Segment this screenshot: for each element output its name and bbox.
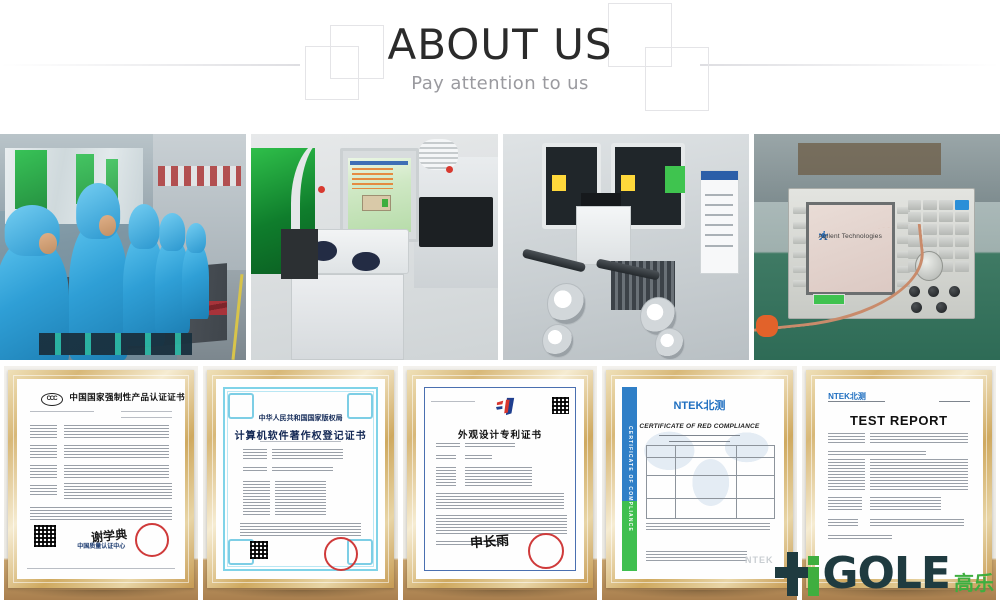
ref-line [669, 441, 730, 442]
field-labels [436, 443, 460, 449]
frame-shadow [12, 590, 190, 598]
component-reel [547, 283, 586, 324]
cnipa-logo-icon [495, 397, 517, 417]
ntek-watermark: NTEK [745, 555, 774, 565]
field-values [436, 493, 564, 509]
field-values [870, 519, 964, 527]
certificate-software-copyright[interactable]: 中华人民共和国国家版权局 计算机软件著作权登记证书 [203, 366, 397, 600]
cert-no-line [431, 401, 475, 402]
doc-line [705, 245, 733, 247]
body-text [30, 507, 171, 521]
field-line [30, 411, 94, 412]
emergency-stop-button [318, 186, 325, 193]
certificate-document: NTEK北测 TEST REPORT [815, 379, 983, 579]
key [923, 200, 937, 210]
worker-face [39, 233, 56, 253]
photo-smt-inspection-machine[interactable] [251, 134, 497, 360]
key-active [955, 200, 969, 210]
field-values [870, 459, 968, 491]
worker-face [99, 215, 116, 235]
key [955, 249, 969, 259]
connector [949, 286, 960, 297]
field-labels [30, 445, 57, 459]
doc-line [705, 204, 733, 206]
certificate-title: CERTIFICATE OF RED COMPLIANCE [615, 423, 783, 430]
clipboard-clip [701, 171, 738, 180]
key [923, 237, 937, 247]
screen-dialog [362, 195, 391, 211]
key [939, 237, 953, 247]
certificate-ccc[interactable]: CCC 中国国家强制性产品认证证书 [4, 366, 198, 600]
issuer-block [646, 551, 747, 563]
certificates-gallery: CCC 中国国家强制性产品认证证书 [0, 366, 1000, 600]
table-rule [675, 446, 676, 518]
key [955, 237, 969, 247]
certificate-design-patent[interactable]: 外观设计专利证书 申长雨 [403, 366, 597, 600]
directive-line [659, 435, 740, 436]
worker-cap [186, 223, 206, 254]
field-values [870, 497, 941, 511]
certificate-mat: CCC 中国国家强制性产品认证证书 [17, 379, 185, 579]
gold-frame: 外观设计专利证书 申长雨 [407, 370, 593, 588]
doc-line [705, 224, 733, 226]
field-values [64, 483, 172, 501]
photo-rf-test-equipment[interactable]: Agilent Technologies [754, 134, 1000, 360]
page-subtitle: Pay attention to us [0, 73, 1000, 95]
field-labels [436, 467, 456, 487]
certificate-title: 计算机软件著作权登记证书 [216, 427, 384, 442]
clipboard-document [700, 170, 739, 274]
yellow-tag [552, 175, 566, 191]
monitor-screen [348, 158, 411, 233]
key [908, 200, 922, 210]
machine-opening [419, 197, 493, 247]
rf-connectors [908, 285, 967, 313]
red-seal [324, 537, 358, 571]
certificate-document: CCC 中国国家强制性产品认证证书 [17, 379, 185, 579]
field-values [64, 445, 168, 459]
component-reel [655, 328, 685, 360]
doc-line [705, 214, 733, 216]
wall-stripes [158, 166, 242, 186]
certificate-test-report[interactable]: NTEK北测 TEST REPORT [802, 366, 996, 600]
doc-line [705, 194, 733, 196]
certificate-authority: 中华人民共和国国家版权局 [216, 413, 384, 423]
connector [936, 302, 947, 313]
field-labels [828, 519, 858, 527]
certificate-mat: 中华人民共和国国家版权局 计算机软件著作权登记证书 [216, 379, 384, 579]
red-seal [135, 523, 169, 557]
field-values [272, 467, 333, 473]
emergency-stop-button [446, 166, 453, 173]
ntek-brand-text: NTEK北测 [828, 392, 866, 401]
certificate-document: CERTIFICATE OF COMPLIANCE NTEK北测 CERTIFI… [615, 379, 783, 579]
inspection-lens-right [352, 252, 380, 272]
gold-frame: CERTIFICATE OF COMPLIANCE NTEK北测 CERTIFI… [606, 370, 792, 588]
certificate-title: 中国国家强制性产品认证证书 [17, 391, 185, 403]
report-title: TEST REPORT [815, 413, 983, 428]
green-label [665, 166, 685, 193]
gold-frame: 中华人民共和国国家版权局 计算机软件著作权登记证书 [207, 370, 393, 588]
certificate-mat: NTEK北测 TEST REPORT [815, 379, 983, 579]
connector [909, 286, 920, 297]
field-labels [828, 535, 892, 539]
gold-frame: CCC 中国国家强制性产品认证证书 [8, 370, 194, 588]
report-no-line [828, 401, 885, 402]
page-no-line [939, 401, 969, 402]
field-labels [243, 467, 267, 473]
signature: 申长雨 [469, 530, 509, 552]
frame-shadow [211, 590, 389, 598]
key [939, 224, 953, 234]
green-panel-1 [15, 150, 47, 209]
screen-titlebar [350, 161, 408, 165]
table-rule [647, 457, 775, 458]
field-values [275, 481, 326, 517]
key [955, 224, 969, 234]
screen-text-lines [352, 168, 393, 189]
doc-line [705, 234, 733, 236]
certificate-mat: CERTIFICATE OF COMPLIANCE NTEK北测 CERTIFI… [615, 379, 783, 579]
facility-photo-gallery: Agilent Technologies [0, 134, 1000, 360]
field-line [121, 411, 172, 412]
sidebar-label: CERTIFICATE OF COMPLIANCE [627, 426, 633, 532]
red-seal [528, 533, 564, 569]
key [939, 212, 953, 222]
field-labels [828, 497, 862, 511]
connector [928, 286, 939, 297]
worker-cap [129, 204, 160, 249]
table-rule [736, 446, 737, 518]
certificate-mat: 外观设计专利证书 申长雨 [416, 379, 584, 579]
machine-base [291, 274, 404, 360]
field-labels [30, 485, 57, 495]
key [923, 212, 937, 222]
frame-shadow [411, 590, 589, 598]
field-labels [30, 465, 57, 479]
reg-no-line [260, 441, 341, 442]
ntek-brand-text: NTEK北测 [673, 400, 725, 412]
standards-table [646, 445, 776, 519]
certificate-document: 外观设计专利证书 申长雨 [416, 379, 584, 579]
field-labels [828, 433, 865, 445]
controller-pc [281, 229, 318, 279]
wood-shelf [798, 143, 941, 175]
certificate-red-compliance[interactable]: CERTIFICATE OF COMPLIANCE NTEK北测 CERTIFI… [602, 366, 796, 600]
table-note [646, 523, 771, 531]
section-note [828, 451, 926, 455]
ntek-brand: NTEK北测 [615, 397, 783, 413]
gold-frame: NTEK北测 TEST REPORT [806, 370, 992, 588]
frame-shadow [610, 590, 788, 598]
field-values [64, 425, 168, 439]
key [908, 212, 922, 222]
table-rule [647, 498, 775, 499]
softkey [793, 222, 806, 229]
qr-code [250, 541, 268, 559]
field-line [121, 417, 172, 418]
table-rule [647, 475, 775, 476]
body-text [240, 523, 361, 537]
yellow-tag [621, 175, 635, 191]
product-trays [39, 333, 192, 356]
field-values [465, 443, 516, 449]
softkey [793, 207, 806, 214]
orange-tool [756, 315, 778, 338]
about-us-page: ABOUT US Pay attention to us [0, 0, 1000, 600]
header-text-block: ABOUT US Pay attention to us [0, 0, 1000, 95]
field-labels [30, 425, 57, 439]
photo-assembly-line[interactable] [0, 134, 246, 360]
worker [182, 242, 209, 319]
qr-code [552, 397, 569, 414]
frame-shadow [810, 590, 988, 598]
connector [911, 302, 922, 313]
field-labels [436, 455, 456, 461]
component-reel [542, 324, 574, 358]
screen-ok-box [382, 199, 388, 207]
field-labels [828, 459, 865, 491]
key [939, 200, 953, 210]
field-labels [243, 449, 267, 461]
certificate-title: 外观设计专利证书 [416, 427, 584, 441]
key [955, 212, 969, 222]
field-values [465, 455, 492, 461]
field-values [465, 467, 532, 487]
worker-cap [160, 213, 186, 251]
certificate-document: 中华人民共和国国家版权局 计算机软件著作权登记证书 [216, 379, 384, 579]
field-labels [243, 481, 270, 517]
field-values [870, 433, 968, 445]
footer-rule [27, 568, 175, 569]
placement-head [576, 206, 630, 265]
key [923, 224, 937, 234]
field-values [64, 465, 168, 479]
photo-pick-and-place-machine[interactable] [503, 134, 749, 360]
key [955, 261, 969, 271]
compliance-sidebar: CERTIFICATE OF COMPLIANCE [622, 387, 637, 571]
cable-coil [419, 139, 458, 171]
field-values [272, 449, 343, 461]
certificate-footer: 中国质量认证中心 [17, 541, 185, 550]
page-title: ABOUT US [0, 23, 1000, 67]
page-header: ABOUT US Pay attention to us [0, 0, 1000, 126]
